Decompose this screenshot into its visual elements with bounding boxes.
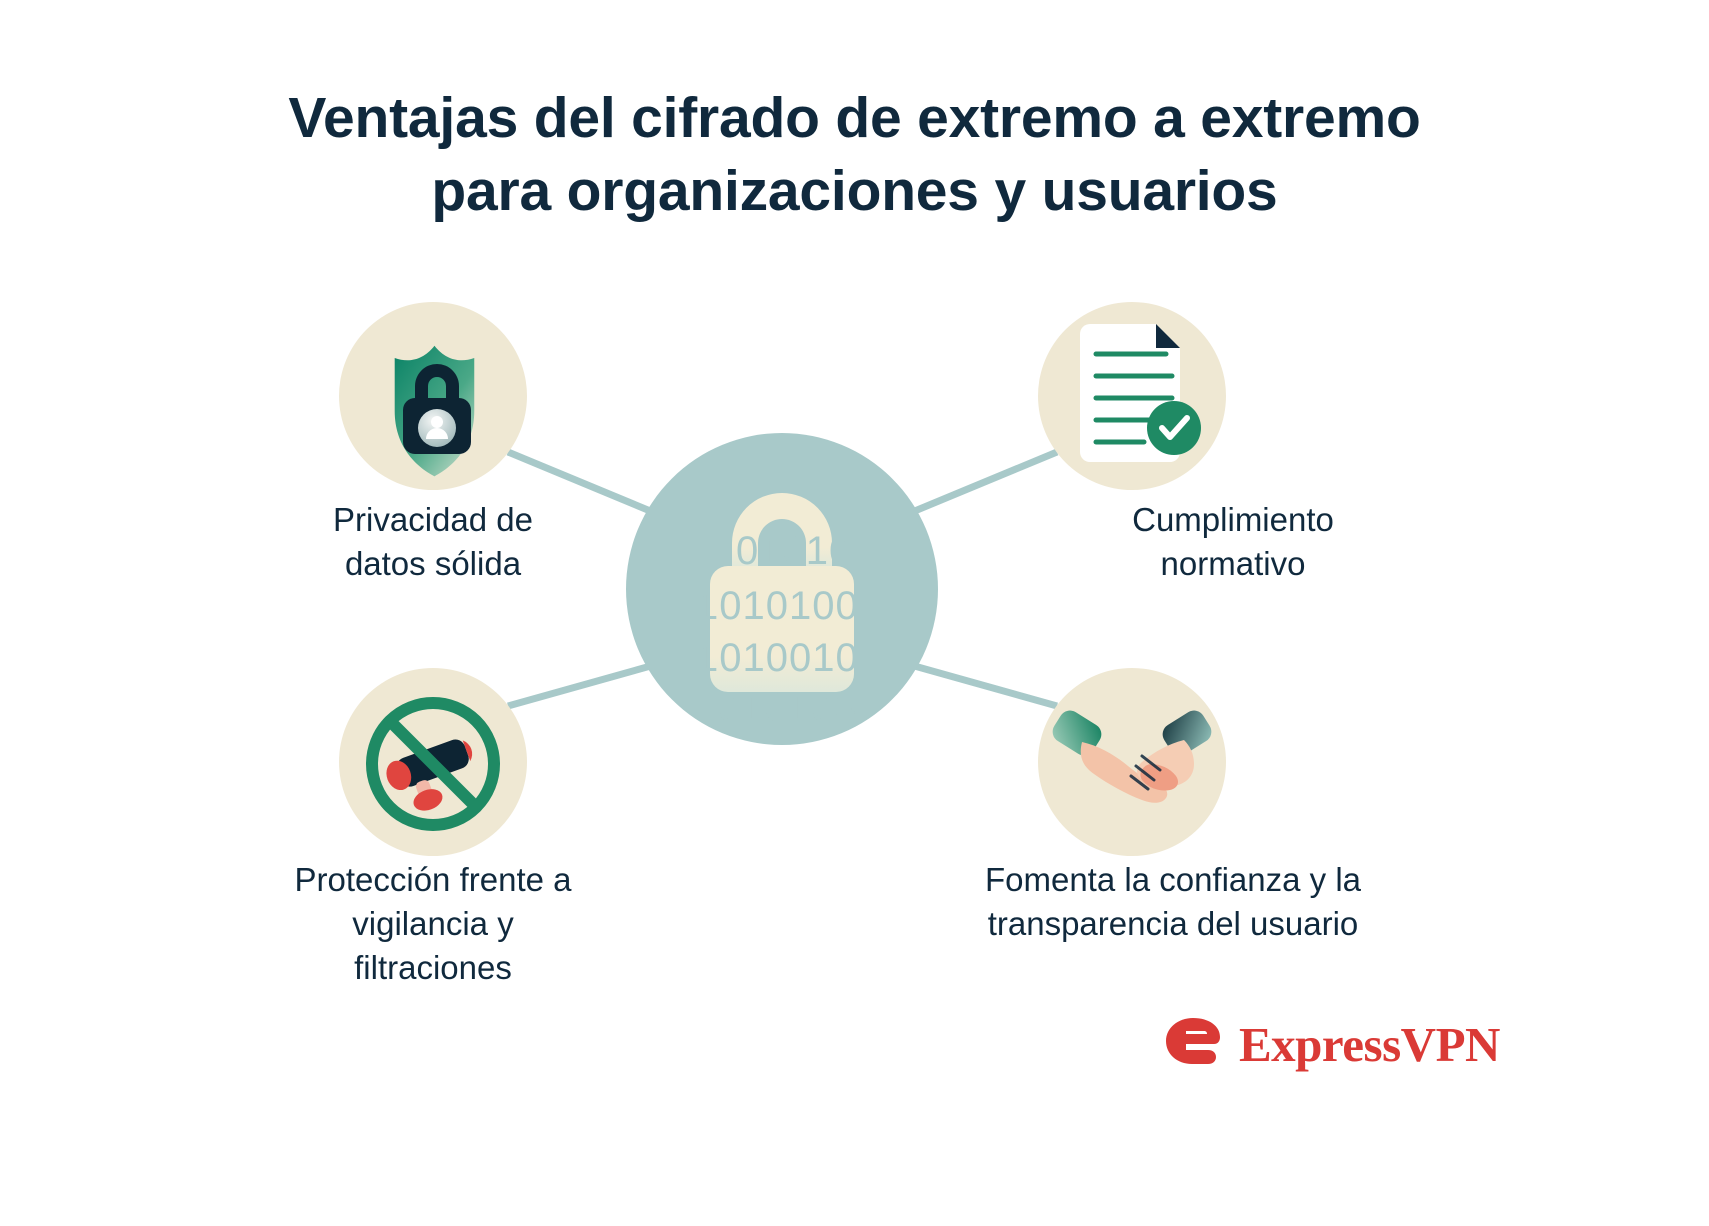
node-icon-privacidad xyxy=(339,302,527,490)
node-label-vigilancia-line-1: Protección frente a xyxy=(198,858,668,902)
svg-text:010100: 010100 xyxy=(718,686,857,730)
handshake-icon xyxy=(1038,668,1226,856)
center-hub-circle: 01010 1010100 1010010 010100 xyxy=(626,433,938,745)
node-label-confianza-line-2: transparencia del usuario xyxy=(880,902,1466,946)
node-label-vigilancia: Protección frente a vigilancia y filtrac… xyxy=(198,858,668,991)
node-label-cumplimiento-line-1: Cumplimiento xyxy=(1000,498,1466,542)
node-label-cumplimiento: Cumplimiento normativo xyxy=(1000,498,1466,586)
svg-text:01010: 01010 xyxy=(736,529,852,573)
expressvpn-logo: ExpressVPN xyxy=(1160,1008,1490,1080)
shield-lock-user-icon xyxy=(339,302,527,490)
expressvpn-e-mark-icon xyxy=(1160,1014,1226,1074)
node-label-privacidad-line-1: Privacidad de xyxy=(200,498,666,542)
node-icon-vigilancia xyxy=(339,668,527,856)
document-check-icon xyxy=(1038,302,1226,490)
svg-text:1010010: 1010010 xyxy=(696,636,859,680)
node-icon-cumplimiento xyxy=(1038,302,1226,490)
no-surveillance-camera-icon xyxy=(339,668,527,856)
infographic-canvas: Ventajas del cifrado de extremo a extrem… xyxy=(0,0,1709,1226)
node-label-cumplimiento-line-2: normativo xyxy=(1000,542,1466,586)
node-label-vigilancia-line-2: vigilancia y xyxy=(198,902,668,946)
node-label-confianza: Fomenta la confianza y la transparencia … xyxy=(880,858,1466,946)
padlock-binary-icon: 01010 1010100 1010010 010100 xyxy=(626,433,938,745)
node-label-confianza-line-1: Fomenta la confianza y la xyxy=(880,858,1466,902)
expressvpn-wordmark: ExpressVPN xyxy=(1239,1020,1500,1069)
node-label-privacidad-line-2: datos sólida xyxy=(200,542,666,586)
svg-text:1010100: 1010100 xyxy=(696,584,859,628)
node-icon-confianza xyxy=(1038,668,1226,856)
node-label-vigilancia-line-3: filtraciones xyxy=(198,946,668,990)
node-label-privacidad: Privacidad de datos sólida xyxy=(200,498,666,586)
